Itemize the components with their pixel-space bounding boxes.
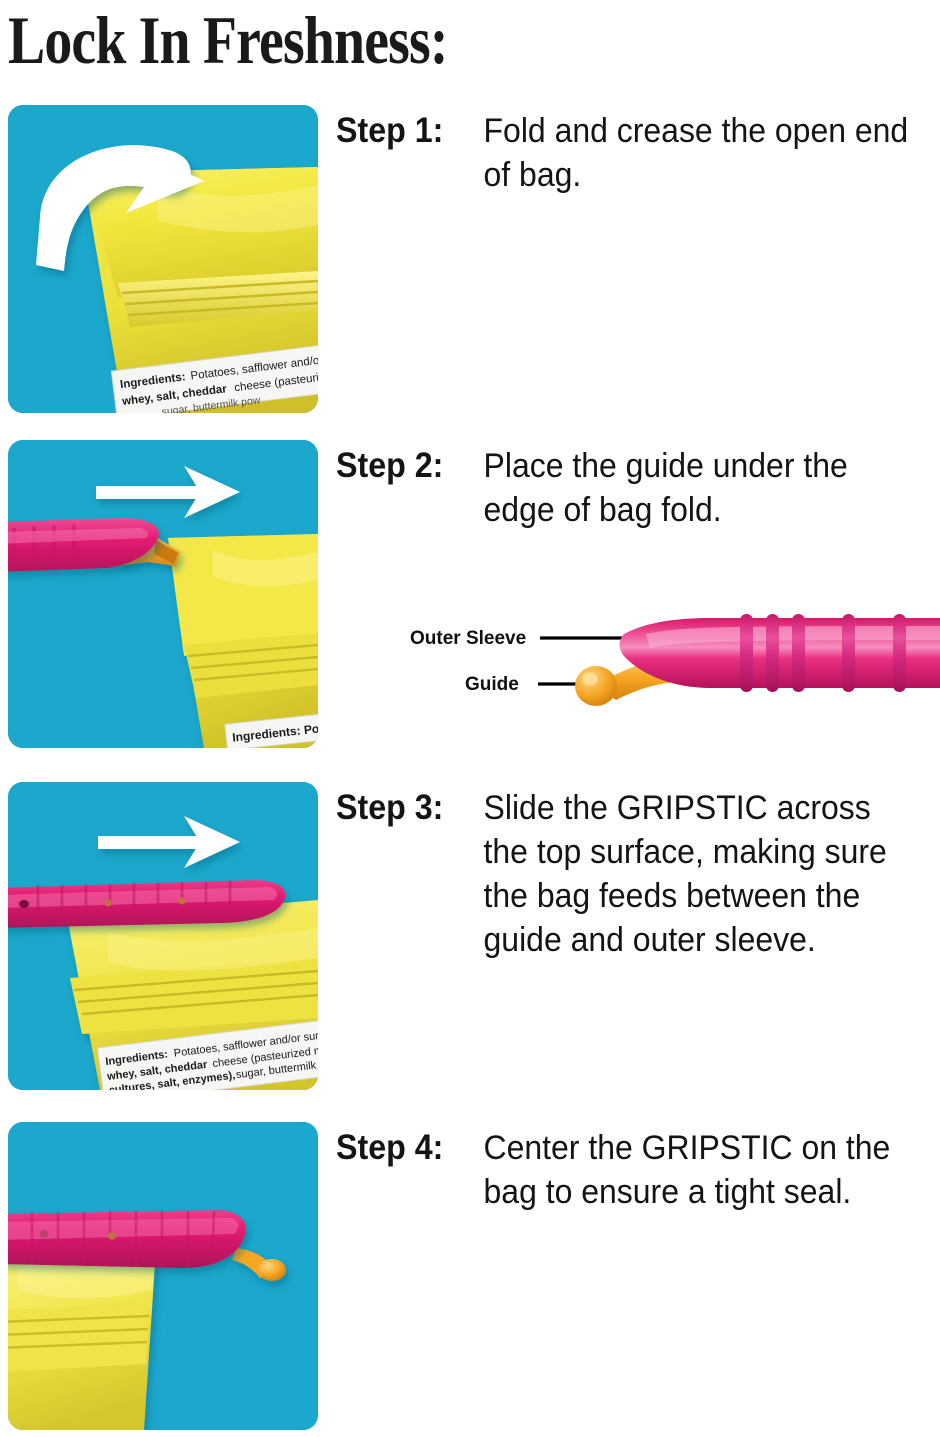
gripstic-parts-diagram: Outer Sleeve Guide — [410, 600, 940, 720]
step-2-text-block: Step 2: Place the guide under the edge o… — [336, 444, 936, 532]
step-row-2: Ingredients: Pot Step 2: Place the guide… — [0, 440, 940, 750]
gripstic-body — [8, 880, 285, 928]
centered-gripstic-illustration — [8, 1122, 318, 1430]
step-row-4: Step 4: Center the GRIPSTIC on the bag t… — [0, 1122, 940, 1434]
outer-sleeve-label: Outer Sleeve — [410, 628, 526, 649]
step-1-photo-panel: Ingredients: Potatoes, safflower and/or … — [8, 105, 318, 413]
step-4-text-block: Step 4: Center the GRIPSTIC on the bag t… — [336, 1126, 936, 1214]
step-1-text-block: Step 1: Fold and crease the open end of … — [336, 109, 936, 197]
bag-fold-illustration: Ingredients: Potatoes, safflower and/or … — [8, 105, 318, 413]
step-1-description: Fold and crease the open end of bag. — [476, 109, 908, 197]
step-3-text-block: Step 3: Slide the GRIPSTIC across the to… — [336, 786, 936, 962]
gripstic-body — [8, 1210, 246, 1268]
step-3-description: Slide the GRIPSTIC across the top surfac… — [476, 786, 908, 962]
outer-sleeve-part — [620, 614, 940, 692]
step-2-description: Place the guide under the edge of bag fo… — [476, 444, 908, 532]
step-1-label: Step 1: — [336, 109, 465, 153]
step-2-label: Step 2: — [336, 444, 465, 488]
step-4-photo-panel — [8, 1122, 318, 1430]
step-4-description: Center the GRIPSTIC on the bag to ensure… — [476, 1126, 908, 1214]
step-row-3: Ingredients: Potatoes, safflower and/or … — [0, 782, 940, 1092]
step-2-photo-panel: Ingredients: Pot — [8, 440, 318, 748]
step-3-photo-panel: Ingredients: Potatoes, safflower and/or … — [8, 782, 318, 1090]
guide-label: Guide — [465, 674, 519, 695]
page-title: Lock In Freshness: — [8, 2, 448, 78]
step-4-label: Step 4: — [336, 1126, 465, 1170]
guide-under-fold-illustration: Ingredients: Pot — [8, 440, 318, 748]
step-3-label: Step 3: — [336, 786, 465, 830]
step-row-1: Ingredients: Potatoes, safflower and/or … — [0, 105, 940, 415]
slide-gripstic-illustration: Ingredients: Potatoes, safflower and/or … — [8, 782, 318, 1090]
